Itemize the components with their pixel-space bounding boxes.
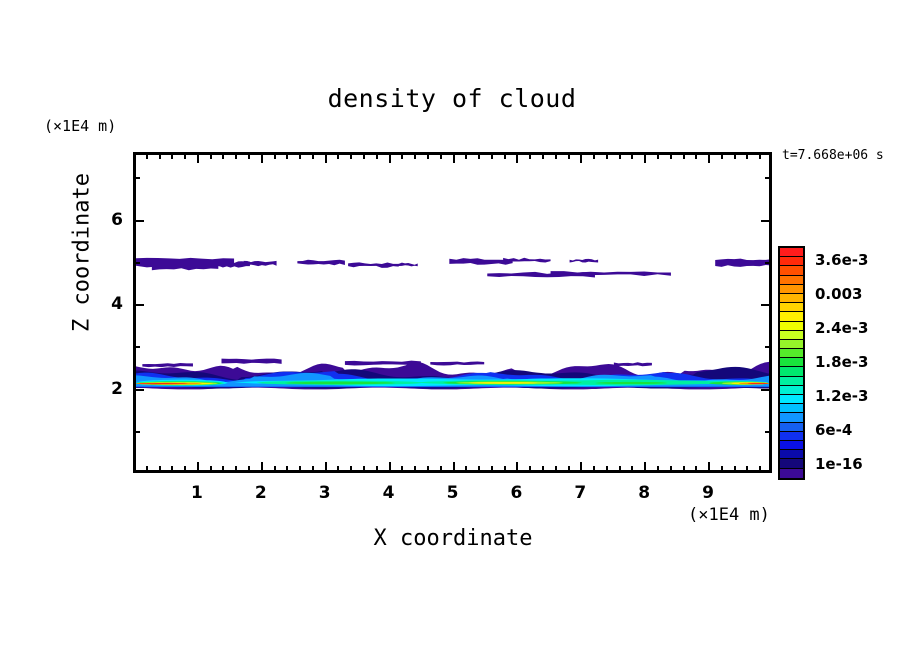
x-tick-label: 4 (374, 483, 404, 503)
x-minor-tick-top (440, 154, 442, 159)
contour-field (136, 155, 769, 470)
x-minor-tick (401, 466, 403, 471)
x-minor-tick-top (683, 154, 685, 159)
x-minor-tick (184, 466, 186, 471)
x-minor-tick-top (414, 154, 416, 159)
colorbar-band (780, 423, 803, 432)
x-tick-label: 7 (565, 483, 595, 503)
x-minor-tick (657, 466, 659, 471)
contour-band-green (595, 382, 668, 384)
x-minor-tick (376, 466, 378, 471)
x-tick-label: 6 (501, 483, 531, 503)
timestamp-label: t=7.668e+06 s (782, 148, 884, 163)
colorbar-tick-label: 1.2e-3 (815, 387, 868, 405)
x-minor-tick (478, 466, 480, 471)
x-minor-tick-top (734, 154, 736, 159)
x-minor-tick-top (248, 154, 250, 159)
x-minor-tick-top (350, 154, 352, 159)
contour-wisp (430, 361, 484, 365)
x-minor-tick (504, 466, 506, 471)
x-minor-tick (683, 466, 685, 471)
x-minor-tick-top (427, 154, 429, 159)
x-minor-tick (414, 466, 416, 471)
x-minor-tick-top (337, 154, 339, 159)
x-minor-tick (210, 466, 212, 471)
x-minor-tick-top (210, 154, 212, 159)
colorbar-band (780, 248, 803, 257)
x-minor-tick (440, 466, 442, 471)
x-minor-tick-top (401, 154, 403, 159)
x-minor-tick-top (593, 154, 595, 159)
x-minor-tick (670, 466, 672, 471)
x-minor-tick-top (478, 154, 480, 159)
colorbar-tick-label: 2.4e-3 (815, 319, 868, 337)
y-major-tick-right (761, 304, 770, 306)
contour-patch-upper (715, 259, 769, 267)
x-minor-tick (312, 466, 314, 471)
x-minor-tick (146, 466, 148, 471)
x-minor-tick-top (363, 154, 365, 159)
colorbar-band (780, 312, 803, 321)
x-minor-tick (746, 466, 748, 471)
colorbar-tick-label: 3.6e-3 (815, 251, 868, 269)
x-minor-tick (695, 466, 697, 471)
x-minor-tick-top (504, 154, 506, 159)
x-minor-tick-top (568, 154, 570, 159)
x-minor-tick-top (721, 154, 723, 159)
x-minor-tick (593, 466, 595, 471)
contour-wisp (614, 362, 652, 366)
x-major-tick (453, 462, 455, 471)
y-axis-unit-label: (×1E4 m) (44, 117, 116, 135)
x-major-tick (325, 462, 327, 471)
x-major-tick-top (516, 154, 518, 163)
x-minor-tick-top (376, 154, 378, 159)
colorbar-band (780, 257, 803, 266)
x-minor-tick-top (555, 154, 557, 159)
x-major-tick-top (580, 154, 582, 163)
y-minor-tick (135, 262, 140, 264)
x-minor-tick (555, 466, 557, 471)
x-minor-tick-top (184, 154, 186, 159)
contour-patch-upper (152, 261, 218, 270)
x-minor-tick-top (759, 154, 761, 159)
colorbar-band (780, 469, 803, 478)
colorbar-band (780, 459, 803, 468)
figure-canvas: density of cloud (×1E4 m) t=7.668e+06 s … (0, 0, 904, 654)
x-minor-tick (363, 466, 365, 471)
x-minor-tick (299, 466, 301, 471)
y-minor-tick-right (765, 177, 770, 179)
contour-wisp (345, 361, 421, 366)
x-minor-tick (721, 466, 723, 471)
x-minor-tick (248, 466, 250, 471)
contour-wisp (142, 363, 193, 367)
x-tick-label: 3 (310, 483, 340, 503)
x-minor-tick-top (171, 154, 173, 159)
x-minor-tick-top (146, 154, 148, 159)
x-minor-tick-top (235, 154, 237, 159)
x-minor-tick-top (529, 154, 531, 159)
x-minor-tick-top (606, 154, 608, 159)
contour-patch-upper (570, 259, 599, 263)
y-tick-label: 2 (93, 379, 123, 399)
x-tick-label: 5 (438, 483, 468, 503)
x-major-tick (261, 462, 263, 471)
x-minor-tick-top (299, 154, 301, 159)
colorbar-band (780, 395, 803, 404)
x-minor-tick (159, 466, 161, 471)
colorbar-band (780, 413, 803, 422)
x-tick-label: 2 (246, 483, 276, 503)
colorbar-tick-label: 1.8e-3 (815, 353, 868, 371)
x-minor-tick-top (695, 154, 697, 159)
contour-wisp (221, 359, 281, 364)
colorbar-tick-label: 6e-4 (815, 421, 852, 439)
colorbar-band (780, 294, 803, 303)
colorbar-band (780, 367, 803, 376)
x-minor-tick-top (159, 154, 161, 159)
x-minor-tick (286, 466, 288, 471)
colorbar-band (780, 432, 803, 441)
x-major-tick-top (197, 154, 199, 163)
colorbar-gradient (778, 246, 805, 480)
colorbar-band (780, 404, 803, 413)
x-minor-tick-top (286, 154, 288, 159)
y-tick-label: 4 (93, 294, 123, 314)
y-minor-tick-right (765, 346, 770, 348)
x-minor-tick (171, 466, 173, 471)
x-minor-tick-top (619, 154, 621, 159)
x-tick-label: 1 (182, 483, 212, 503)
colorbar-band (780, 377, 803, 386)
x-minor-tick (491, 466, 493, 471)
y-major-tick-right (761, 389, 770, 391)
colorbar-band (780, 303, 803, 312)
x-minor-tick (606, 466, 608, 471)
page-title: density of cloud (0, 84, 904, 113)
x-minor-tick-top (274, 154, 276, 159)
x-tick-label: 8 (629, 483, 659, 503)
x-minor-tick (222, 466, 224, 471)
x-minor-tick-top (542, 154, 544, 159)
y-major-tick-right (761, 220, 770, 222)
colorbar-band (780, 441, 803, 450)
colorbar-band (780, 358, 803, 367)
x-minor-tick (350, 466, 352, 471)
x-minor-tick-top (312, 154, 314, 159)
x-major-tick-top (261, 154, 263, 163)
x-major-tick-top (453, 154, 455, 163)
colorbar-band (780, 450, 803, 459)
x-minor-tick-top (670, 154, 672, 159)
y-major-tick (135, 389, 144, 391)
contour-patch-upper (297, 260, 345, 265)
x-major-tick-top (644, 154, 646, 163)
x-minor-tick-top (631, 154, 633, 159)
x-minor-tick (529, 466, 531, 471)
plot-area (133, 152, 772, 473)
y-axis-title: Z coordinate (70, 153, 95, 353)
x-axis-title: X coordinate (233, 526, 673, 551)
colorbar-band (780, 285, 803, 294)
colorbar-band (780, 322, 803, 331)
y-minor-tick (135, 346, 140, 348)
x-minor-tick (734, 466, 736, 471)
x-minor-tick (235, 466, 237, 471)
colorbar-band (780, 276, 803, 285)
x-major-tick (389, 462, 391, 471)
x-major-tick (197, 462, 199, 471)
y-tick-label: 6 (93, 210, 123, 230)
x-major-tick (708, 462, 710, 471)
colorbar-band (780, 386, 803, 395)
colorbar-tick-label: 1e-16 (815, 455, 863, 473)
y-minor-tick (135, 431, 140, 433)
x-minor-tick (427, 466, 429, 471)
x-minor-tick (274, 466, 276, 471)
x-major-tick-top (708, 154, 710, 163)
y-major-tick (135, 220, 144, 222)
x-minor-tick (542, 466, 544, 471)
y-minor-tick (135, 177, 140, 179)
x-tick-label: 9 (693, 483, 723, 503)
x-axis-unit-label: (×1E4 m) (688, 505, 770, 525)
x-major-tick-top (389, 154, 391, 163)
x-major-tick (580, 462, 582, 471)
x-minor-tick-top (491, 154, 493, 159)
x-minor-tick (759, 466, 761, 471)
x-minor-tick (619, 466, 621, 471)
x-minor-tick-top (746, 154, 748, 159)
colorbar-tick-label: 0.003 (815, 285, 862, 303)
y-minor-tick-right (765, 431, 770, 433)
colorbar-band (780, 340, 803, 349)
colorbar-band (780, 349, 803, 358)
x-minor-tick (631, 466, 633, 471)
x-minor-tick-top (465, 154, 467, 159)
x-major-tick (644, 462, 646, 471)
x-minor-tick-top (222, 154, 224, 159)
y-major-tick (135, 304, 144, 306)
colorbar-band (780, 266, 803, 275)
x-major-tick-top (325, 154, 327, 163)
x-major-tick (516, 462, 518, 471)
x-minor-tick-top (657, 154, 659, 159)
y-minor-tick-right (765, 262, 770, 264)
colorbar-band (780, 331, 803, 340)
x-minor-tick (465, 466, 467, 471)
x-minor-tick (337, 466, 339, 471)
x-minor-tick (568, 466, 570, 471)
